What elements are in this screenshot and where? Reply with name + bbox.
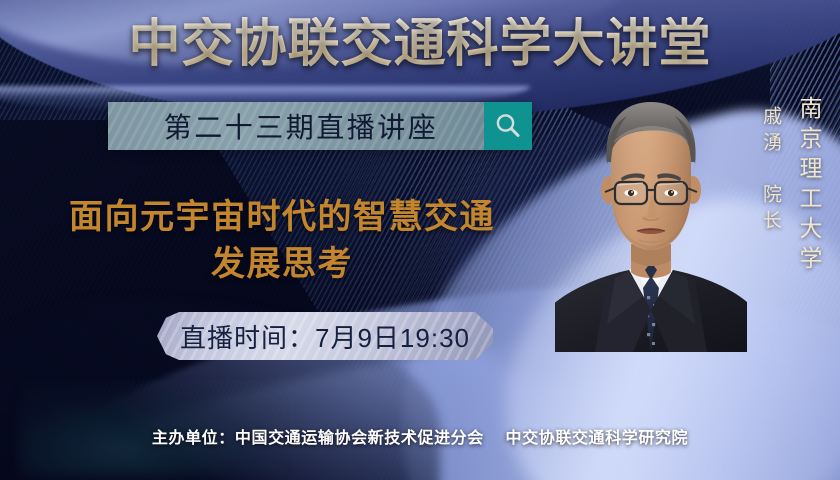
page-title: 中交协联交通科学大讲堂 (0, 17, 840, 72)
broadcast-time-badge: 直播时间：7月9日19:30 (157, 312, 493, 360)
headline-line-2: 发展思考 (24, 241, 540, 288)
speaker-portrait (555, 84, 747, 352)
episode-banner: 第二十三期直播讲座 (108, 102, 532, 150)
speaker-affiliation: 南京理工大学 (792, 96, 826, 276)
speaker-name-title: 戚湧 院长 (757, 106, 784, 236)
organizer-footer: 主办单位：中国交通运输协会新技术促进分会 中交协联交通科学研究院 (0, 424, 840, 448)
webinar-poster: 中交协联交通科学大讲堂 第二十三期直播讲座 面向元宇宙时代的智慧交通 发展思考 … (0, 0, 840, 480)
search-icon[interactable] (484, 102, 532, 150)
headline-line-1: 面向元宇宙时代的智慧交通 (24, 194, 540, 241)
episode-banner-body: 第二十三期直播讲座 (108, 102, 484, 150)
broadcast-time-label: 直播时间：7月9日19:30 (180, 318, 470, 355)
episode-label: 第二十三期直播讲座 (154, 106, 439, 146)
lecture-headline: 面向元宇宙时代的智慧交通 发展思考 (24, 194, 540, 288)
